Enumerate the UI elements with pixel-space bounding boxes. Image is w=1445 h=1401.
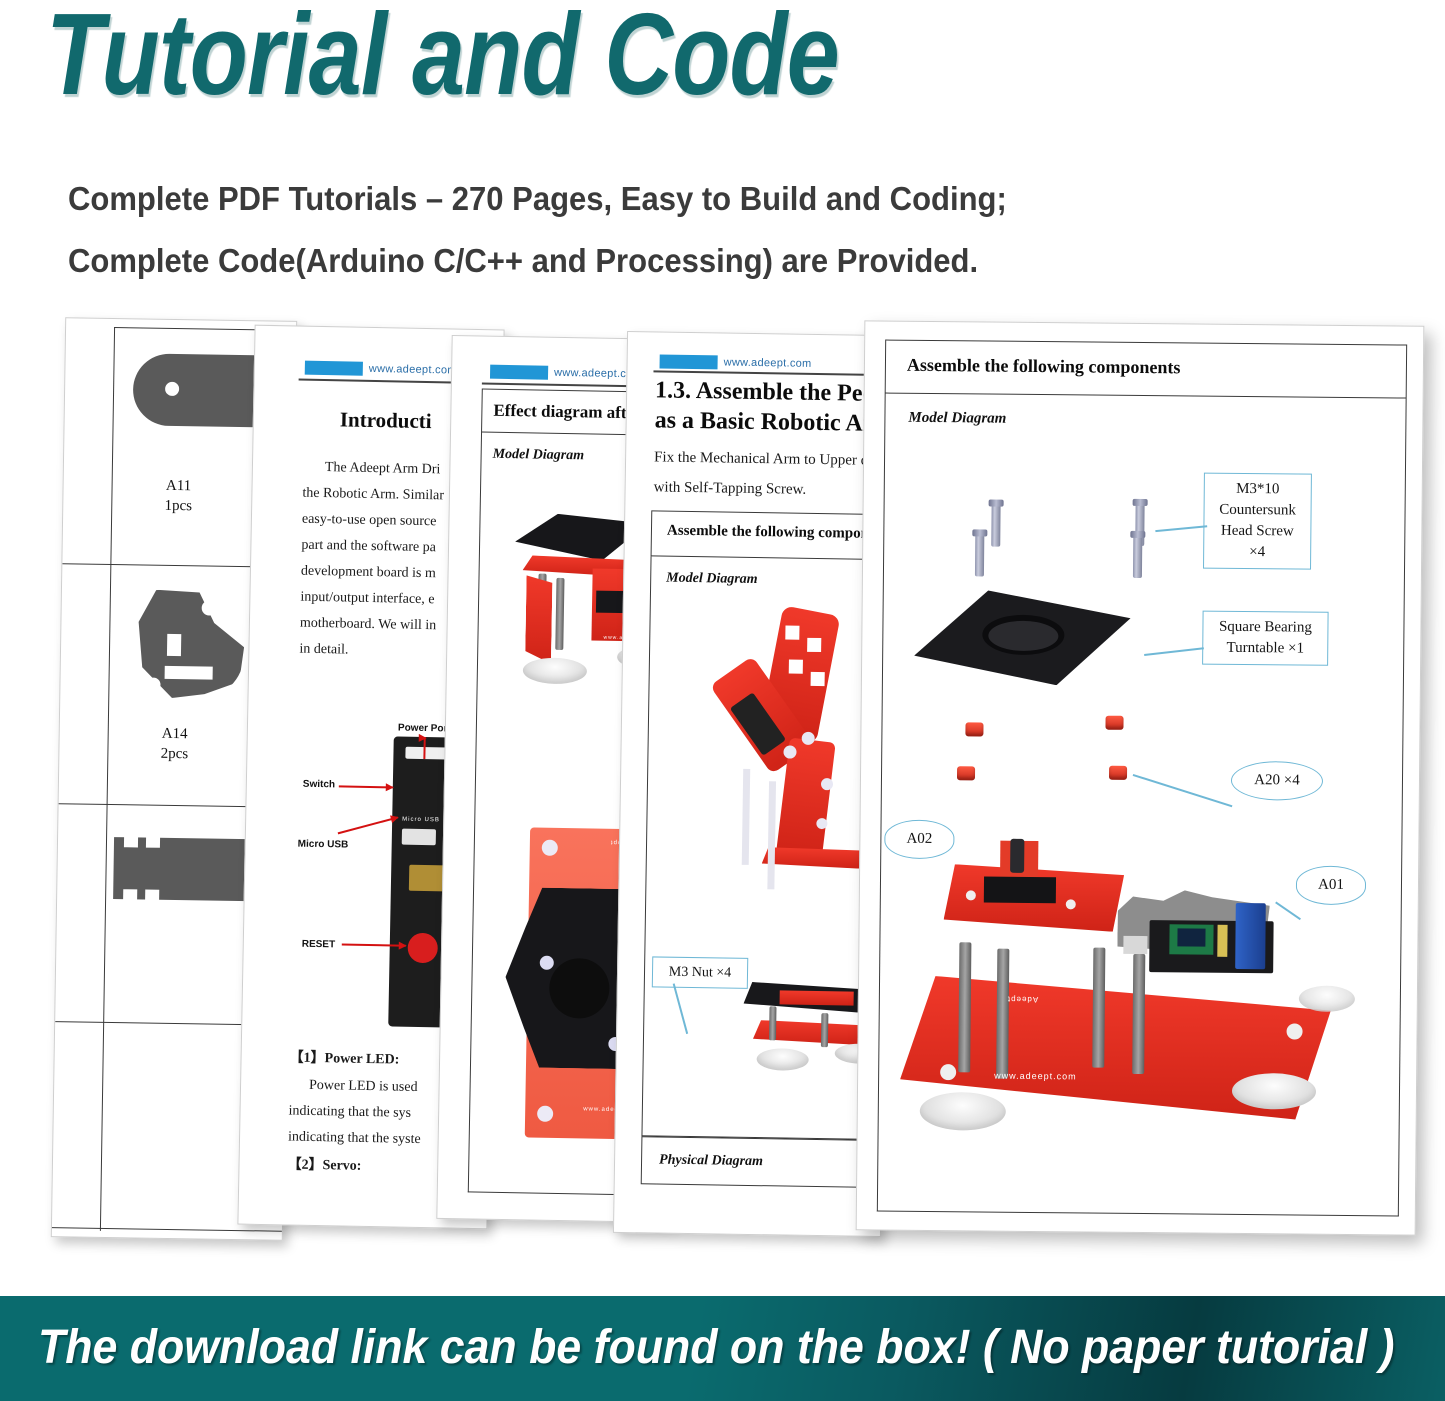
turntable-inner xyxy=(988,621,1058,652)
callout-text: A20 ×4 xyxy=(1254,772,1300,788)
micro-usb-port xyxy=(402,829,436,846)
nut-guideline xyxy=(742,769,751,865)
brand-silk: Adeept xyxy=(1007,995,1038,1004)
callout-line-1: Square Bearing xyxy=(1211,617,1319,639)
countersunk-screw xyxy=(975,534,984,576)
a20-callout: A20 ×4 xyxy=(1231,761,1323,801)
brand-bar-icon xyxy=(490,365,548,380)
red-accent xyxy=(780,990,854,1005)
part-slot xyxy=(167,634,181,656)
m3-nut-callout: M3 Nut ×4 xyxy=(652,956,748,989)
annotation-label-micro-usb: Micro USB xyxy=(298,839,349,851)
part-hole xyxy=(202,600,217,615)
support-rod xyxy=(1132,954,1145,1074)
arm-hole xyxy=(811,672,825,686)
a20-nut xyxy=(957,766,975,780)
diagram-caption: Model Diagram xyxy=(666,571,758,588)
arm-hole xyxy=(785,625,799,639)
countersunk-screw xyxy=(1133,536,1142,578)
countersunk-screw xyxy=(991,505,1000,547)
product-feature-image: Tutorial and Code Complete PDF Tutorials… xyxy=(0,0,1445,1401)
diagram-caption: Model Diagram xyxy=(493,447,585,465)
part-notch xyxy=(145,890,159,906)
arm-hole xyxy=(789,660,803,674)
site-url: www.adeept.com xyxy=(369,363,457,377)
screw-callout: M3*10 Countersunk Head Screw ×4 xyxy=(1203,473,1312,570)
support-rod xyxy=(555,578,564,650)
banner-text: The download link can be found on the bo… xyxy=(38,1320,1395,1375)
brand-bar-icon xyxy=(305,361,363,376)
base-plate-assembly: Adeept www.adeept.com xyxy=(899,942,1361,1176)
annotation-arrow xyxy=(423,737,425,759)
a20-nut xyxy=(1109,766,1127,780)
tutorial-pages-fan: A11 1pcs A14 2pcs xyxy=(0,305,1445,1265)
annotation-label-reset: RESET xyxy=(302,939,336,951)
instruction-line-2: with Self-Tapping Screw. xyxy=(653,474,806,502)
support-rod xyxy=(821,1013,829,1047)
red-bracket xyxy=(525,575,553,663)
annotation-label-power-port: Power Port xyxy=(398,723,451,735)
part-notch xyxy=(146,832,160,848)
subtitle-block: Complete PDF Tutorials – 270 Pages, Easy… xyxy=(68,168,1308,292)
plate-text: www.adeept.com xyxy=(994,1071,1077,1082)
square-bearing-turntable xyxy=(914,590,1131,686)
callout-line-3: Head Screw ×4 xyxy=(1212,521,1302,564)
annotation-arrow xyxy=(342,943,406,946)
callout-text: M3 Nut ×4 xyxy=(669,965,732,981)
joint-screw xyxy=(821,778,833,790)
suction-cup xyxy=(920,1092,1006,1131)
tutorial-page-assemble-pedestal: www.adeept.com 1.3. Assemble the Pedes a… xyxy=(613,331,895,1237)
cover-screw xyxy=(1066,899,1076,909)
suction-cup xyxy=(757,1048,809,1071)
site-header: www.adeept.com xyxy=(660,354,812,370)
annotation-arrow xyxy=(338,816,398,834)
part-notch xyxy=(123,889,137,905)
a20-nut xyxy=(1105,716,1123,730)
tutorial-page-assemble-components: Assemble the following components Model … xyxy=(856,320,1425,1235)
annotation-arrow xyxy=(339,785,393,788)
board-silk-label: Micro USB xyxy=(402,817,440,824)
support-rod xyxy=(996,949,1009,1079)
upper-cover-assembly xyxy=(943,832,1134,954)
callout-line-2: Countersunk xyxy=(1212,500,1302,522)
brand-bar-icon xyxy=(660,354,718,369)
support-rod xyxy=(958,942,971,1072)
diagram-caption: Model Diagram xyxy=(908,410,1006,428)
bottom-banner: The download link can be found on the bo… xyxy=(0,1296,1445,1401)
callout-text: A01 xyxy=(1318,877,1344,893)
subtitle-line-1: Complete PDF Tutorials – 270 Pages, Easy… xyxy=(68,168,1234,230)
page-title: Tutorial and Code xyxy=(46,0,839,116)
a20-nut xyxy=(965,722,983,736)
footer-caption: Physical Diagram xyxy=(659,1153,763,1171)
turntable-callout: Square Bearing Turntable ×1 xyxy=(1202,611,1329,666)
site-url: www.adeept.com xyxy=(724,356,812,369)
reset-button[interactable] xyxy=(407,933,438,964)
site-header: www.adeept.com xyxy=(490,365,642,382)
nut-guideline xyxy=(767,781,776,889)
header-rule xyxy=(653,370,889,376)
base-screw xyxy=(940,1064,956,1080)
suction-cup xyxy=(523,657,587,684)
page-heading-line-2: as a Basic Robotic Arm ( xyxy=(654,406,895,439)
section-box-title: Assemble the following components xyxy=(907,355,1181,379)
instruction-line-1: Fix the Mechanical Arm to Upper cover xyxy=(654,444,894,474)
cover-screw xyxy=(966,890,976,900)
callout-line-2: Turntable ×1 xyxy=(1211,638,1319,660)
part-slot xyxy=(165,666,213,680)
part-hole xyxy=(165,382,179,396)
servo-horn xyxy=(1010,839,1024,873)
subtitle-line-2: Complete Code(Arduino C/C++ and Processi… xyxy=(68,230,1234,292)
callout-line-1: M3*10 xyxy=(1213,479,1303,501)
suction-cup xyxy=(1299,986,1355,1013)
page-heading: Introducti xyxy=(340,407,432,434)
support-rod xyxy=(769,1006,777,1040)
base-screw xyxy=(1286,1023,1302,1039)
section-box-title: Assemble the following components xyxy=(667,523,895,544)
part-notch xyxy=(124,831,138,847)
arm-hole xyxy=(807,638,821,652)
part-hole xyxy=(146,678,160,692)
site-header: www.adeept.com xyxy=(305,361,457,378)
servo-body xyxy=(984,877,1056,904)
annotation-label-switch: Switch xyxy=(303,779,335,791)
arm-base-plate xyxy=(762,847,868,869)
callout-text: A02 xyxy=(906,831,932,847)
suction-cup xyxy=(1232,1073,1316,1110)
joint-screw xyxy=(816,818,827,829)
page-heading-line-1: 1.3. Assemble the Pedes xyxy=(655,376,895,409)
support-rod xyxy=(1092,948,1105,1068)
